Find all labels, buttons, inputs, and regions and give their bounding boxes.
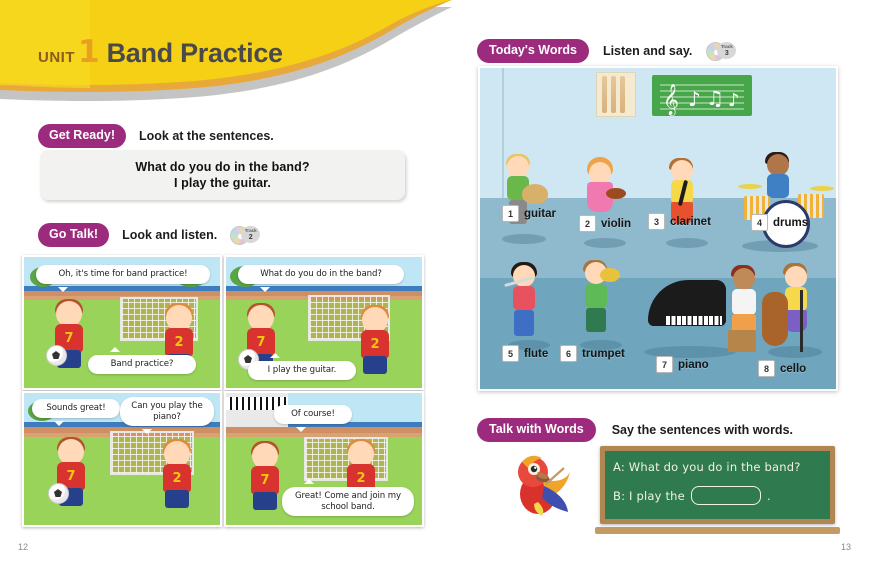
skirt — [785, 310, 807, 332]
piano-keys — [666, 316, 722, 325]
answer-blank-box[interactable] — [691, 486, 761, 505]
shorts — [165, 490, 189, 508]
vocab-label: 7 piano — [656, 356, 709, 373]
todays-words-section-header: Today's Words Listen and say. Track 3 — [477, 39, 736, 63]
speech-bubble: Great! Come and join my school band. — [282, 487, 414, 516]
vocab-label: 1 guitar — [502, 205, 556, 222]
todays-words-caption: Listen and say. — [603, 44, 692, 58]
shorts — [586, 308, 606, 332]
face — [767, 154, 789, 176]
violin-icon — [606, 188, 626, 199]
unit-name: Band Practice — [107, 38, 283, 69]
vocab-number: 8 — [758, 360, 775, 377]
unit-word: UNIT — [38, 49, 75, 66]
vocab-number: 4 — [751, 214, 768, 231]
chalkboard-line-a: A: What do you do in the band? — [613, 460, 801, 474]
shirt: 7 — [251, 466, 279, 494]
track-number: 3 — [725, 50, 729, 57]
track-number-badge: Track 3 — [717, 42, 736, 59]
go-talk-badge[interactable]: Go Talk! — [38, 223, 109, 247]
trumpet-icon — [600, 268, 620, 282]
speech-bubble: Oh, it's time for band practice! — [36, 265, 210, 284]
comic-panel: 7 2 Oh, it's time for band practice! Ban… — [22, 255, 222, 390]
comic-panel: 7 2 Of course! Great! Come and join my s… — [224, 391, 424, 527]
model-sentence-answer: I play the guitar. — [174, 176, 271, 190]
chalkboard-line-b: B: I play the . — [613, 486, 771, 505]
shirt — [732, 289, 756, 315]
track-number: 2 — [249, 234, 253, 241]
character-shadow — [502, 234, 546, 244]
speech-bubble: Can you play the piano? — [120, 397, 214, 426]
talk-with-words-section-header: Talk with Words Say the sentences with w… — [477, 418, 793, 442]
soccer-ball — [48, 483, 69, 504]
face — [671, 160, 693, 182]
textbook-spread: UNIT 1 Band Practice Get Ready! Look at … — [0, 0, 873, 566]
cello-icon — [762, 292, 788, 346]
comic-panel: 7 2 Sounds great! Can you play the piano… — [22, 391, 222, 527]
vocab-label: 2 violin — [579, 215, 631, 232]
chalkboard-ledge — [595, 527, 840, 534]
chalkboard-line-b-suffix: . — [767, 489, 771, 503]
track-number-badge: Track 2 — [241, 226, 260, 243]
speech-bubble: Of course! — [274, 405, 352, 424]
vocab-label: 5 flute — [502, 345, 548, 362]
shorts — [253, 492, 277, 510]
model-sentence-box: What do you do in the band? I play the g… — [40, 150, 405, 200]
model-sentence-question: What do you do in the band? — [135, 160, 309, 174]
svg-text:♪: ♪ — [728, 90, 740, 111]
recorder-icon — [602, 76, 607, 113]
page-number-left: 12 — [18, 542, 28, 552]
vocab-number: 2 — [579, 215, 596, 232]
character-shadow — [584, 238, 626, 248]
shirt — [585, 284, 607, 308]
face — [733, 268, 755, 290]
unit-banner: UNIT 1 Band Practice — [0, 0, 452, 108]
audio-track-icon[interactable]: Track 3 — [706, 42, 736, 59]
talk-with-words-caption: Say the sentences with words. — [612, 423, 793, 437]
vocab-word: violin — [601, 218, 631, 230]
go-talk-caption: Look and listen. — [122, 228, 217, 242]
wall-edge — [502, 68, 504, 198]
vocab-number: 7 — [656, 356, 673, 373]
shirt — [513, 286, 535, 310]
shirt: 2 — [165, 328, 193, 356]
shirt: 2 — [361, 330, 389, 358]
shirt — [785, 287, 807, 311]
vocab-number: 5 — [502, 345, 519, 362]
vocab-word: cello — [780, 363, 806, 375]
vocab-label: 8 cello — [758, 360, 806, 377]
cymbal-icon — [810, 186, 834, 191]
recorder-icon — [620, 76, 625, 113]
vocab-word: guitar — [524, 208, 556, 220]
music-notes-board: 𝄞 ♪ ♫ ♪ — [652, 75, 752, 116]
get-ready-caption: Look at the sentences. — [139, 129, 274, 143]
go-talk-section-header: Go Talk! Look and listen. Track 2 — [38, 223, 260, 247]
unit-number: 1 — [78, 34, 100, 70]
face — [785, 266, 807, 288]
soccer-ball — [46, 345, 67, 366]
vocab-label: 4 drums — [751, 214, 808, 231]
vocab-label: 6 trumpet — [560, 345, 625, 362]
character-shadow — [666, 238, 708, 248]
talk-with-words-badge[interactable]: Talk with Words — [477, 418, 596, 442]
comic-strip: 7 2 Oh, it's time for band practice! Ban… — [22, 255, 420, 523]
speech-bubble: Sounds great! — [32, 399, 120, 418]
face — [507, 156, 529, 178]
face — [589, 162, 611, 184]
pants — [514, 310, 534, 336]
unit-title: UNIT 1 Band Practice — [38, 34, 283, 70]
get-ready-section-header: Get Ready! Look at the sentences. — [38, 124, 274, 148]
track-label: Track — [721, 45, 733, 50]
page-number-right: 13 — [841, 542, 851, 552]
audio-track-icon[interactable]: Track 2 — [230, 226, 260, 243]
svg-text:♪: ♪ — [688, 87, 701, 111]
comic-panel: 7 2 What do you do in the band? I play t… — [224, 255, 424, 390]
track-label: Track — [245, 229, 257, 234]
svg-text:♫: ♫ — [706, 86, 724, 110]
parrot-mascot — [508, 450, 578, 518]
shirt — [767, 174, 789, 198]
vocab-word: clarinet — [670, 216, 711, 228]
chair-back — [800, 290, 803, 352]
speech-bubble: What do you do in the band? — [238, 265, 404, 284]
chalkboard-line-b-prefix: B: I play the — [613, 489, 685, 503]
vocab-word: drums — [773, 217, 808, 229]
soccer-goal — [304, 437, 388, 481]
shorts — [363, 356, 387, 374]
recorder-poster — [596, 72, 636, 117]
piano-stool — [728, 330, 756, 352]
recorder-icon — [611, 76, 616, 113]
vocab-number: 1 — [502, 205, 519, 222]
get-ready-badge[interactable]: Get Ready! — [38, 124, 126, 148]
character-shadow — [768, 346, 822, 358]
vocabulary-illustration-panel: 𝄞 ♪ ♫ ♪ — [478, 66, 838, 391]
shirt: 2 — [163, 464, 191, 492]
vocab-label: 3 clarinet — [648, 213, 711, 230]
svg-text:𝄞: 𝄞 — [663, 83, 679, 116]
guitar-icon — [522, 184, 548, 204]
vocab-number: 3 — [648, 213, 665, 230]
chalkboard-exercise: A: What do you do in the band? B: I play… — [600, 446, 835, 524]
vocab-word: trumpet — [582, 348, 625, 360]
chalkboard — [600, 446, 835, 524]
vocab-number: 6 — [560, 345, 577, 362]
speech-bubble: Band practice? — [88, 355, 196, 374]
vocab-word: piano — [678, 359, 709, 371]
vocab-word: flute — [524, 348, 548, 360]
speech-bubble: I play the guitar. — [248, 361, 356, 380]
todays-words-badge[interactable]: Today's Words — [477, 39, 589, 63]
cymbal-icon — [738, 184, 762, 189]
